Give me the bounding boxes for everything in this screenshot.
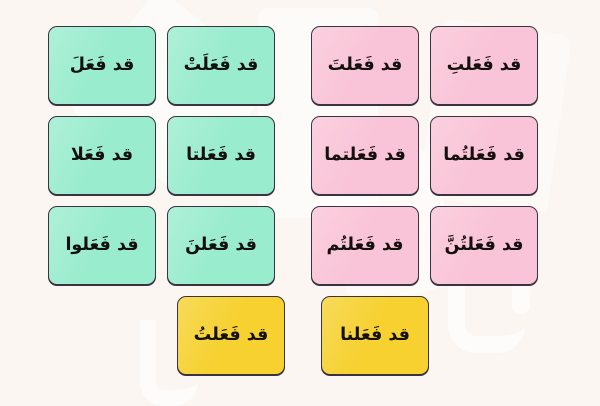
column-gap	[296, 296, 310, 375]
card-label: قد فَعَلتُما	[443, 145, 525, 167]
card-label: قد فَعَلا	[71, 145, 133, 167]
card-label: قد فَعَلَ	[70, 55, 135, 77]
card-label: قد فَعَلَتْ	[184, 55, 259, 77]
card-row-1: قد فَعَلتِ قد فَعَلتَ قد فَعَلَتْ قد فَع…	[62, 26, 538, 105]
card-r3c4[interactable]: قد فَعَلوا	[48, 206, 156, 285]
card-r3c3[interactable]: قد فَعَلنَ	[167, 206, 275, 285]
card-label: قد فَعَلتِ	[447, 55, 522, 77]
conjugation-card-board: قد فَعَلتِ قد فَعَلتَ قد فَعَلَتْ قد فَع…	[0, 0, 600, 400]
card-r3c2[interactable]: قد فَعَلتُم	[311, 206, 419, 285]
card-r2c4[interactable]: قد فَعَلا	[48, 116, 156, 195]
card-r1c1[interactable]: قد فَعَلتِ	[430, 26, 538, 105]
card-r2c3[interactable]: قد فَعَلتا	[167, 116, 275, 195]
card-label: قد فَعَلنَ	[185, 235, 257, 257]
card-row-4: قد فَعَلنا قد فَعَلتُ	[62, 296, 538, 375]
card-row-2: قد فَعَلتُما قد فَعَلتما قد فَعَلتا قد ف…	[62, 116, 538, 195]
card-label: قد فَعَلنا	[340, 325, 410, 347]
card-row-3: قد فَعَلتُنَّ قد فَعَلتُم قد فَعَلنَ قد …	[62, 206, 538, 285]
card-label: قد فَعَلوا	[65, 235, 138, 257]
card-r2c1[interactable]: قد فَعَلتُما	[430, 116, 538, 195]
card-r1c3[interactable]: قد فَعَلَتْ	[167, 26, 275, 105]
card-r1c2[interactable]: قد فَعَلتَ	[311, 26, 419, 105]
card-r3c1[interactable]: قد فَعَلتُنَّ	[430, 206, 538, 285]
column-gap	[286, 26, 300, 105]
card-label: قد فَعَلتَ	[328, 55, 403, 77]
card-r1c4[interactable]: قد فَعَلَ	[48, 26, 156, 105]
column-gap	[286, 116, 300, 195]
column-gap	[286, 206, 300, 285]
card-label: قد فَعَلتا	[186, 145, 256, 167]
card-r2c2[interactable]: قد فَعَلتما	[311, 116, 419, 195]
card-label: قد فَعَلتُم	[327, 235, 404, 257]
card-label: قد فَعَلتُ	[194, 325, 269, 347]
card-label: قد فَعَلتُنَّ	[444, 235, 523, 257]
card-label: قد فَعَلتما	[324, 145, 406, 167]
card-r4c3[interactable]: قد فَعَلتُ	[177, 296, 285, 375]
card-r4c2[interactable]: قد فَعَلنا	[321, 296, 429, 375]
